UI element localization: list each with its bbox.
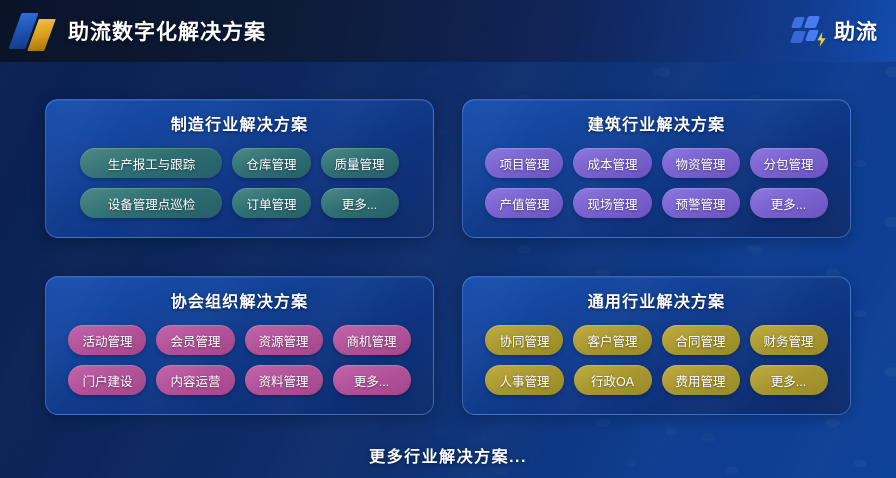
card-pill-list: 活动管理 会员管理 资源管理 商机管理 门户建设 内容运营 资料管理 更多...	[60, 325, 419, 395]
lightning-blocks-logo-icon	[792, 16, 826, 46]
pill-item[interactable]: 会员管理	[156, 325, 234, 355]
card-title: 协会组织解决方案	[171, 288, 309, 312]
pill-item[interactable]: 成本管理	[573, 148, 651, 178]
pill-item[interactable]: 内容运营	[156, 365, 234, 395]
pill-item-more[interactable]: 更多...	[750, 188, 828, 218]
logo-block-1	[791, 17, 805, 28]
pill-item[interactable]: 物资管理	[662, 148, 740, 178]
solution-card-manufacturing[interactable]: 制造行业解决方案 生产报工与跟踪 仓库管理 质量管理 设备管理点巡检 订单管理 …	[45, 99, 434, 238]
pill-item[interactable]: 设备管理点巡检	[80, 188, 222, 218]
pill-item[interactable]: 预警管理	[662, 188, 740, 218]
brand-name: 助流	[834, 16, 878, 46]
pill-item[interactable]: 资源管理	[245, 325, 323, 355]
logo-block-2	[804, 16, 820, 28]
logo-block-3	[790, 31, 806, 43]
card-title: 建筑行业解决方案	[588, 111, 726, 135]
pill-item-more[interactable]: 更多...	[321, 188, 399, 218]
pill-item[interactable]: 资料管理	[245, 365, 323, 395]
logo-block-4	[805, 30, 819, 41]
pill-item[interactable]: 合同管理	[662, 325, 740, 355]
solution-card-general[interactable]: 通用行业解决方案 协同管理 客户管理 合同管理 财务管理 人事管理 行政OA 费…	[462, 276, 851, 415]
pill-item[interactable]: 生产报工与跟踪	[80, 148, 222, 178]
card-pill-list: 协同管理 客户管理 合同管理 财务管理 人事管理 行政OA 费用管理 更多...	[477, 325, 836, 395]
pill-item[interactable]: 仓库管理	[232, 148, 310, 178]
page-header: 助流数字化解决方案 助流	[0, 0, 896, 62]
pill-item[interactable]: 产值管理	[485, 188, 563, 218]
pill-item-more[interactable]: 更多...	[750, 365, 828, 395]
solution-card-association[interactable]: 协会组织解决方案 活动管理 会员管理 资源管理 商机管理 门户建设 内容运营 资…	[45, 276, 434, 415]
dual-parallelogram-logo-icon	[12, 11, 58, 51]
lightning-bolt-icon	[816, 32, 827, 47]
pill-item[interactable]: 分包管理	[750, 148, 828, 178]
pill-item[interactable]: 客户管理	[573, 325, 651, 355]
pill-item[interactable]: 商机管理	[333, 325, 411, 355]
card-title: 制造行业解决方案	[171, 111, 309, 135]
card-title: 通用行业解决方案	[588, 288, 726, 312]
card-pill-list: 项目管理 成本管理 物资管理 分包管理 产值管理 现场管理 预警管理 更多...	[477, 148, 836, 218]
solution-cards-grid: 制造行业解决方案 生产报工与跟踪 仓库管理 质量管理 设备管理点巡检 订单管理 …	[45, 99, 851, 415]
card-pill-list: 生产报工与跟踪 仓库管理 质量管理 设备管理点巡检 订单管理 更多...	[60, 148, 419, 218]
pill-item[interactable]: 行政OA	[574, 365, 652, 395]
pill-item[interactable]: 现场管理	[573, 188, 651, 218]
pill-item[interactable]: 人事管理	[485, 365, 563, 395]
pill-item[interactable]: 协同管理	[485, 325, 563, 355]
page-title: 助流数字化解决方案	[68, 16, 266, 46]
solution-overview-slide: 助流数字化解决方案 助流 制造行业解决方案 生产报工与跟踪 仓库管理 质量管理 …	[0, 0, 896, 478]
pill-item[interactable]: 质量管理	[321, 148, 399, 178]
pill-item[interactable]: 项目管理	[485, 148, 563, 178]
brand-logo: 助流	[792, 16, 878, 46]
footer-more-industries: 更多行业解决方案...	[0, 443, 896, 467]
pill-item[interactable]: 财务管理	[750, 325, 828, 355]
pill-item[interactable]: 活动管理	[68, 325, 146, 355]
pill-item-more[interactable]: 更多...	[333, 365, 411, 395]
pill-item[interactable]: 费用管理	[662, 365, 740, 395]
pill-item[interactable]: 订单管理	[232, 188, 310, 218]
solution-card-construction[interactable]: 建筑行业解决方案 项目管理 成本管理 物资管理 分包管理 产值管理 现场管理 预…	[462, 99, 851, 238]
pill-item[interactable]: 门户建设	[68, 365, 146, 395]
